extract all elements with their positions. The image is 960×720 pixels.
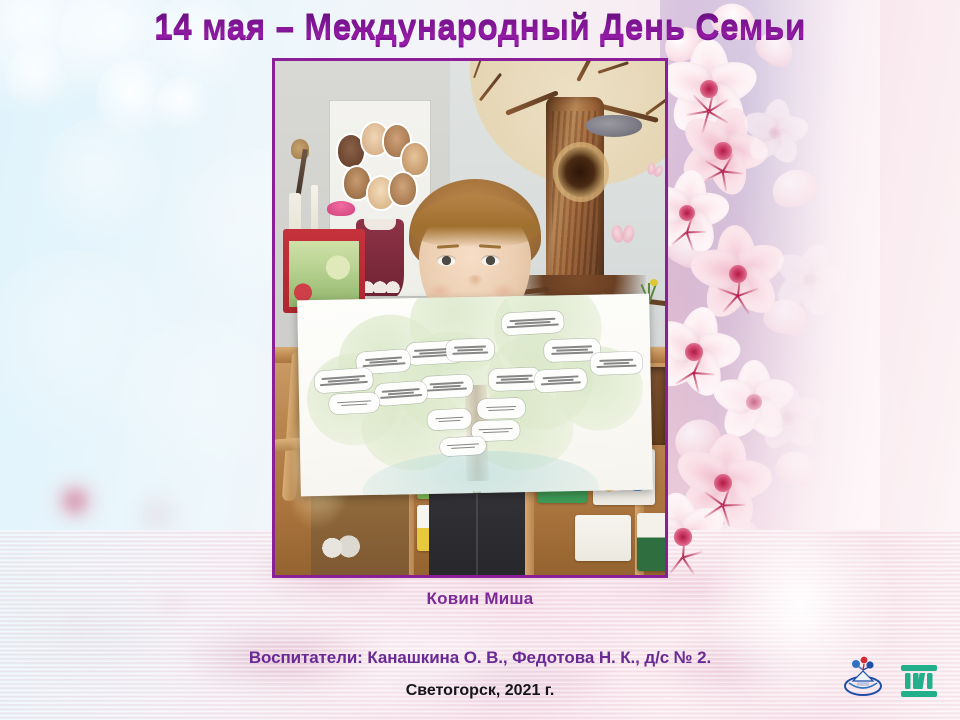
picture-card (637, 513, 665, 571)
cherry-blossom-branch (660, 0, 880, 600)
butterfly-icon (612, 225, 635, 243)
family-name-label (329, 392, 380, 415)
slide-canvas: 14 мая – Международный День Семьи 14 мая… (0, 0, 960, 720)
family-name-label (477, 398, 526, 420)
butterfly-icon (646, 162, 664, 178)
family-name-label (420, 374, 473, 399)
family-name-label (446, 338, 495, 362)
infourok-columns-logo (899, 664, 939, 698)
birds-nest (586, 115, 642, 137)
picture-card (575, 515, 631, 561)
nose (467, 275, 483, 287)
tree-hollow (558, 147, 604, 197)
family-name-label (374, 381, 427, 407)
family-name-label (501, 310, 564, 335)
family-name-label (534, 368, 587, 393)
family-name-label (590, 351, 643, 375)
picture-card (319, 531, 363, 559)
family-name-label (488, 367, 541, 391)
eye (481, 255, 500, 266)
family-name-label (314, 367, 373, 393)
page-title: 14 мая – Международный День Семьи (19, 9, 941, 46)
city-year-caption: Светогорск, 2021 г. (0, 682, 960, 700)
child-name-caption: Ковин Миша (0, 589, 960, 609)
family-name-label (427, 408, 472, 430)
glue-bottle (289, 193, 301, 233)
school-emblem-logo (843, 653, 883, 697)
family-tree-poster (297, 294, 653, 497)
pink-toy (327, 201, 355, 216)
eye (437, 255, 456, 266)
candle (311, 185, 318, 233)
teachers-caption: Воспитатели: Канашкина О. В., Федотова Н… (0, 648, 960, 668)
family-name-label (440, 436, 487, 456)
classroom-photo (275, 61, 665, 575)
photo-frame (272, 58, 668, 578)
